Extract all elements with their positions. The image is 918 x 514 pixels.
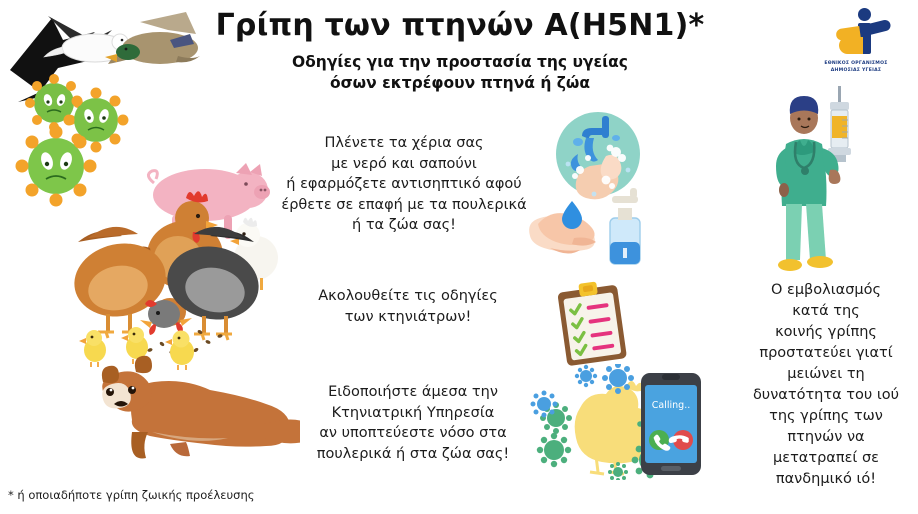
subtitle-line-2: όσων εκτρέφουν πτηνά ή ζώα xyxy=(250,73,670,94)
instruction-3-line-1: Ειδοποιήστε άμεσα την xyxy=(288,382,538,403)
instruction-3-line-4: πουλερικά ή στα ζώα σας! xyxy=(288,444,538,465)
nurse-with-syringe xyxy=(760,82,890,278)
logo-text-line-1: ΕΘΝΙΚΟΣ ΟΡΓΑΝΙΣΜΟΣ xyxy=(808,60,904,67)
instruction-notify-vet-text: Ειδοποιήστε άμεσα την Κτηνιατρική Υπηρεσ… xyxy=(288,382,538,464)
vaccination-line-8: πτηνών να xyxy=(736,427,916,448)
instruction-1-line-2: με νερό και σαπούνι xyxy=(268,154,540,175)
instruction-handwashing-text: Πλένετε τα χέρια σας με νερό και σαπούνι… xyxy=(268,133,540,236)
vaccination-line-3: κοινής γρίπης xyxy=(736,322,916,343)
handwash-icon xyxy=(520,108,660,273)
syringe-icon xyxy=(828,86,851,162)
logo-right-arm-icon xyxy=(868,19,892,35)
instruction-1-line-5: ή τα ζώα σας! xyxy=(268,215,540,236)
phone-screen-label-overlay xyxy=(640,372,702,476)
infographic-poster: Γρίπη των πτηνών Α(H5N1)* Οδηγίες για τη… xyxy=(0,0,918,514)
instruction-2-line-1: Ακολουθείτε τις οδηγίες xyxy=(288,286,528,307)
vaccination-line-4: προστατεύει γιατί xyxy=(736,343,916,364)
eody-logo: ΕΘΝΙΚΟΣ ΟΡΓΑΝΙΣΜΟΣ ΔΗΜΟΣΙΑΣ ΥΓΕΙΑΣ xyxy=(808,6,904,80)
instruction-2-line-2: των κτηνιάτρων! xyxy=(288,307,528,328)
logo-mark xyxy=(808,6,904,58)
clipboard-checklist-icon xyxy=(552,278,638,370)
instruction-3-line-2: Κτηνιατρική Υπηρεσία xyxy=(288,403,538,424)
instruction-3-line-3: αν υποπτεύεστε νόσο στα xyxy=(288,423,538,444)
logo-text-line-2: ΔΗΜΟΣΙΑΣ ΥΓΕΙΑΣ xyxy=(808,67,904,74)
vaccination-line-5: μειώνει τη xyxy=(736,364,916,385)
page-title: Γρίπη των πτηνών Α(H5N1)* xyxy=(180,8,740,43)
vaccination-line-6: δυνατότητα του ιού xyxy=(736,385,916,406)
instruction-1-line-3: ή εφαρμόζετε αντισηπτικό αφού xyxy=(268,174,540,195)
instruction-vet-guidance-text: Ακολουθείτε τις οδηγίες των κτηνιάτρων! xyxy=(288,286,528,327)
vaccination-line-10: πανδημικό ιό! xyxy=(736,469,916,490)
green-virus-particles xyxy=(16,74,129,207)
page-subtitle: Οδηγίες για την προστασία της υγείας όσω… xyxy=(250,52,670,95)
vaccination-line-2: κατά της xyxy=(736,301,916,322)
vaccination-line-1: Ο εμβολιασμός xyxy=(736,280,916,301)
vaccination-line-7: της γρίπης των xyxy=(736,406,916,427)
vaccination-line-9: μετατραπεί σε xyxy=(736,448,916,469)
vaccination-panel-text: Ο εμβολιασμός κατά της κοινής γρίπης προ… xyxy=(736,280,916,490)
subtitle-line-1: Οδηγίες για την προστασία της υγείας xyxy=(250,52,670,73)
brown-ferret xyxy=(102,356,300,459)
logo-left-leg-icon xyxy=(839,37,863,54)
footnote: * ή οποιαδήποτε γρίπη ζωικής προέλευσης xyxy=(8,488,255,502)
instruction-1-line-1: Πλένετε τα χέρια σας xyxy=(268,133,540,154)
logo-head-icon xyxy=(858,8,871,21)
instruction-1-line-4: έρθετε σε επαφή με τα πουλερικά xyxy=(268,195,540,216)
logo-text: ΕΘΝΙΚΟΣ ΟΡΓΑΝΙΣΜΟΣ ΔΗΜΟΣΙΑΣ ΥΓΕΙΑΣ xyxy=(808,60,904,74)
